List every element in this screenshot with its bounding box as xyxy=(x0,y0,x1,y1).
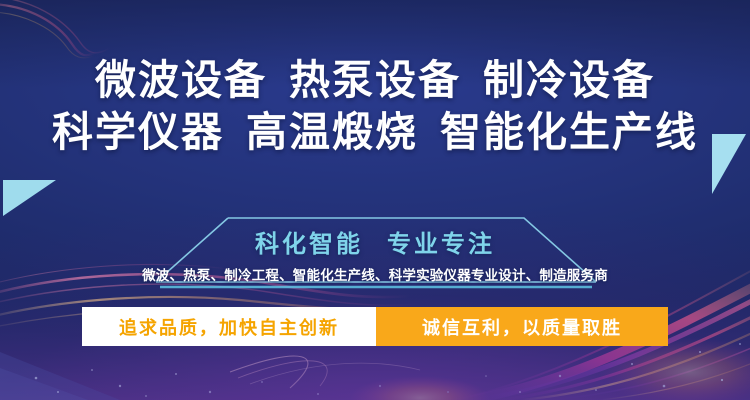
slogan-primary: 追求品质，加快自主创新 xyxy=(82,307,376,346)
headline-line-1: 微波设备热泵设备制冷设备 xyxy=(0,60,750,101)
description-line: 微波、热泵、制冷工程、智能化生产线、科学实验仪器专业设计、制造服务商 xyxy=(0,264,750,284)
slogan-bars: 追求品质，加快自主创新 诚信互利，以质量取胜 xyxy=(82,307,668,346)
headline-item: 智能化生产线 xyxy=(440,109,698,155)
promo-banner: 微波设备热泵设备制冷设备 科学仪器高温煅烧智能化生产线 科化智能专业专注 微波、… xyxy=(0,0,750,400)
triangle-right-icon-left xyxy=(3,180,56,216)
headline: 微波设备热泵设备制冷设备 科学仪器高温煅烧智能化生产线 xyxy=(0,60,750,153)
subtitle-left: 科化智能 xyxy=(255,231,363,258)
headline-item: 微波设备 xyxy=(95,57,267,103)
headline-item: 高温煅烧 xyxy=(246,109,418,155)
subtitle-right: 专业专注 xyxy=(387,231,495,258)
slogan-secondary: 诚信互利，以质量取胜 xyxy=(376,307,668,346)
subtitle: 科化智能专业专注 xyxy=(0,224,750,259)
headline-item: 科学仪器 xyxy=(52,109,224,155)
headline-line-2: 科学仪器高温煅烧智能化生产线 xyxy=(0,112,750,153)
headline-item: 制冷设备 xyxy=(483,57,655,103)
headline-item: 热泵设备 xyxy=(289,57,461,103)
